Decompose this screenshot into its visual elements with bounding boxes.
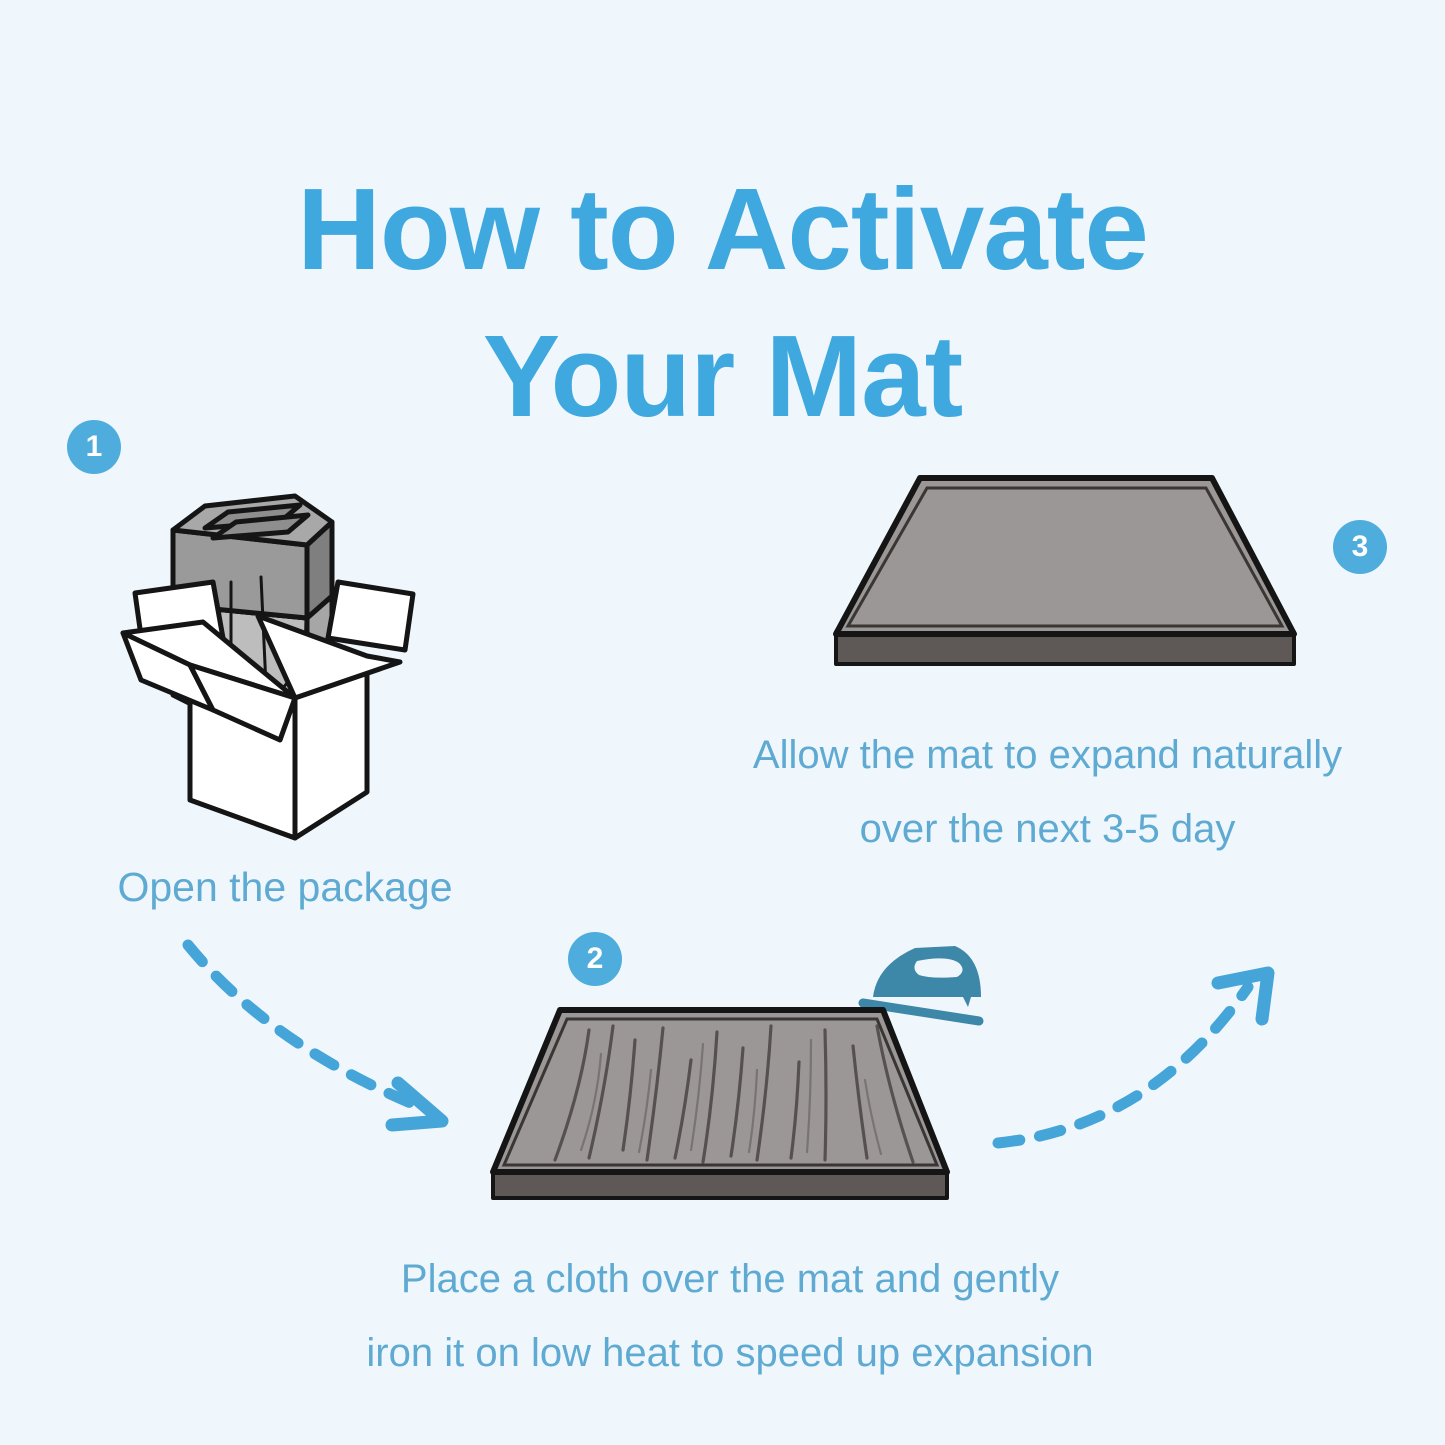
- step-3-caption-line-1: Allow the mat to expand naturally: [675, 718, 1420, 792]
- title-line-2: Your Mat: [0, 303, 1445, 450]
- step-3-caption: Allow the mat to expand naturally over t…: [675, 718, 1420, 866]
- step-3-caption-line-2: over the next 3-5 day: [675, 792, 1420, 866]
- mat-with-cloth-icon: [485, 1000, 955, 1215]
- step-badge-2: 2: [568, 932, 622, 986]
- step-badge-1: 1: [67, 420, 121, 474]
- title-line-1: How to Activate: [0, 156, 1445, 303]
- expanded-mat-icon: [830, 470, 1350, 680]
- arrow-step1-to-step2-icon: [170, 925, 500, 1140]
- infographic-canvas: How to Activate Your Mat 1: [0, 0, 1445, 1445]
- open-box-icon: [95, 470, 465, 840]
- page-title: How to Activate Your Mat: [0, 156, 1445, 451]
- step-1-caption-line-1: Open the package: [20, 850, 550, 926]
- step-1-caption: Open the package: [20, 850, 550, 926]
- step-2-caption-line-1: Place a cloth over the mat and gently: [255, 1242, 1205, 1316]
- step-2-caption: Place a cloth over the mat and gently ir…: [255, 1242, 1205, 1390]
- arrow-step2-to-step3-icon: [980, 955, 1300, 1165]
- step-2-caption-line-2: iron it on low heat to speed up expansio…: [255, 1316, 1205, 1390]
